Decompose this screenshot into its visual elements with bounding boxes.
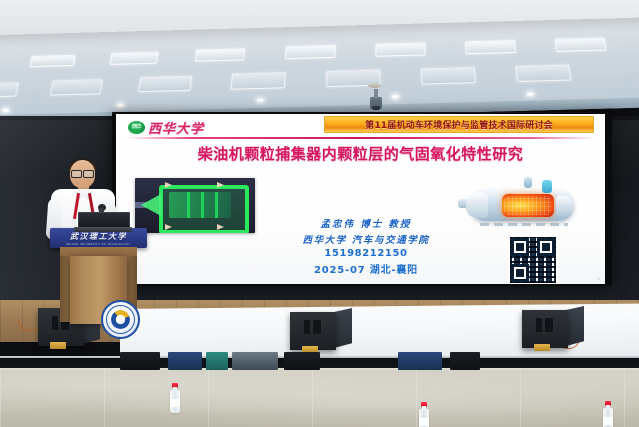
podium-university-name-en: WUHAN UNIVERSITY OF TECHNOLOGY [66, 243, 130, 246]
ceiling-light-panel [138, 76, 192, 92]
speaker-wedge-block [50, 342, 66, 349]
render-sensor-port [524, 177, 532, 188]
ceiling-downlight [392, 95, 399, 98]
slide-title: 柴油机颗粒捕集器内颗粒层的气固氧化特性研究 [116, 143, 605, 164]
foreground-marble-wall [0, 370, 639, 427]
ceiling-light-panel [555, 38, 606, 52]
chair-back [120, 352, 160, 370]
diagram-channel-wall [215, 192, 218, 218]
ceiling-light-panel [231, 72, 286, 90]
chair-back [168, 352, 202, 370]
slide-page-number: 1 [598, 276, 600, 281]
podium-front-panel [70, 256, 127, 324]
qr-finder-icon [511, 264, 529, 282]
presenter-phone: 15198212150 [246, 248, 486, 259]
screenshot-root: 西华 西华大学 第11届机动车环境保护与监管技术国际研讨会 柴油机颗粒捕集器内颗… [0, 0, 639, 427]
render-front-cap [466, 193, 488, 218]
presenter-name-line: 孟忠伟 博士 教授 [246, 216, 486, 230]
chair-back [206, 352, 228, 370]
diagram-filter-core [169, 192, 231, 218]
ceiling-light-panel [110, 52, 159, 65]
dpf-cross-section-diagram [135, 178, 255, 233]
projector-lens-icon [372, 106, 380, 110]
stage-monitor-speaker [290, 308, 352, 350]
ceiling-light-panel [421, 67, 476, 84]
diagram-channel-wall [187, 192, 190, 218]
ceiling-downlight [527, 93, 534, 96]
presenter-affiliation-line: 西华大学 汽车与交通学院 [246, 232, 486, 246]
presentation-slide: 西华 西华大学 第11届机动车环境保护与监管技术国际研讨会 柴油机颗粒捕集器内颗… [116, 114, 605, 284]
diagram-inlet-cone [141, 194, 161, 216]
bottle-label [603, 417, 613, 425]
diagram-channel-wall [201, 192, 204, 218]
podium-university-name: 武汉理工大学 [70, 231, 127, 242]
ceiling-light-panel [195, 48, 245, 61]
chair-back [398, 352, 442, 370]
ceiling-light-panel [50, 79, 103, 95]
diagram-flow-arrow [165, 182, 172, 188]
diagram-flow-arrow [165, 224, 172, 230]
water-bottle [603, 401, 613, 427]
render-sensor-probe [542, 180, 552, 193]
slide-divider-rule [126, 137, 596, 139]
bottle-label [170, 399, 180, 407]
laptop-keyboard-base [74, 227, 132, 232]
ceiling-light-panel [375, 42, 425, 56]
university-logo: 西华 西华大学 [128, 118, 204, 137]
university-emblem-icon [101, 300, 140, 339]
ceiling-downlight [2, 109, 9, 112]
chair-back [450, 352, 480, 370]
logo-chinese-name: 西华大学 [148, 118, 204, 137]
water-bottle [170, 383, 180, 413]
diagram-flow-arrow [217, 182, 224, 188]
lectern-podium: 武汉理工大学 WUHAN UNIVERSITY OF TECHNOLOGY [50, 228, 147, 328]
smoke-detector-icon [368, 83, 381, 88]
render-hot-honeycomb-core [502, 194, 554, 217]
speaker-grille-icon [536, 318, 554, 332]
diagram-flow-arrow [217, 224, 224, 230]
speaker-grille-icon [304, 320, 322, 334]
presentation-date-location: 2025-07 湖北-襄阳 [246, 261, 486, 276]
speaker-side-panel [566, 306, 584, 346]
speaker-wedge-block [534, 344, 550, 351]
stage-monitor-speaker [522, 306, 584, 348]
ceiling-light-panel [30, 55, 76, 67]
bottle-label [419, 418, 429, 426]
logo-badge-icon: 西华 [128, 121, 145, 134]
water-bottle [419, 402, 429, 427]
emblem-swoosh-icon [111, 310, 130, 329]
qr-finder-icon [511, 238, 529, 256]
conference-banner-text: 第11届机动车环境保护与监管技术国际研讨会 [365, 118, 553, 131]
chair-back [284, 352, 320, 370]
chair-back [232, 352, 278, 370]
conference-banner: 第11届机动车环境保护与监管技术国际研讨会 [324, 116, 594, 133]
speaker-side-panel [334, 308, 352, 348]
slide-presenter-block: 孟忠伟 博士 教授 西华大学 汽车与交通学院 15198212150 2025-… [246, 216, 486, 276]
ceiling-light-panel [285, 45, 336, 59]
qr-code [508, 235, 558, 284]
render-caption-placeholder [480, 223, 568, 226]
ceiling-light-panel [465, 40, 516, 54]
audience-seating-row [0, 352, 639, 372]
eyeglasses-icon [71, 170, 94, 176]
ceiling-downlight [117, 104, 124, 107]
ceiling-light-panel [515, 65, 571, 82]
ceiling-downlight [257, 99, 264, 102]
presentation-laptop [74, 212, 130, 232]
qr-finder-icon [537, 238, 555, 256]
ceiling-light-panel [0, 82, 19, 97]
